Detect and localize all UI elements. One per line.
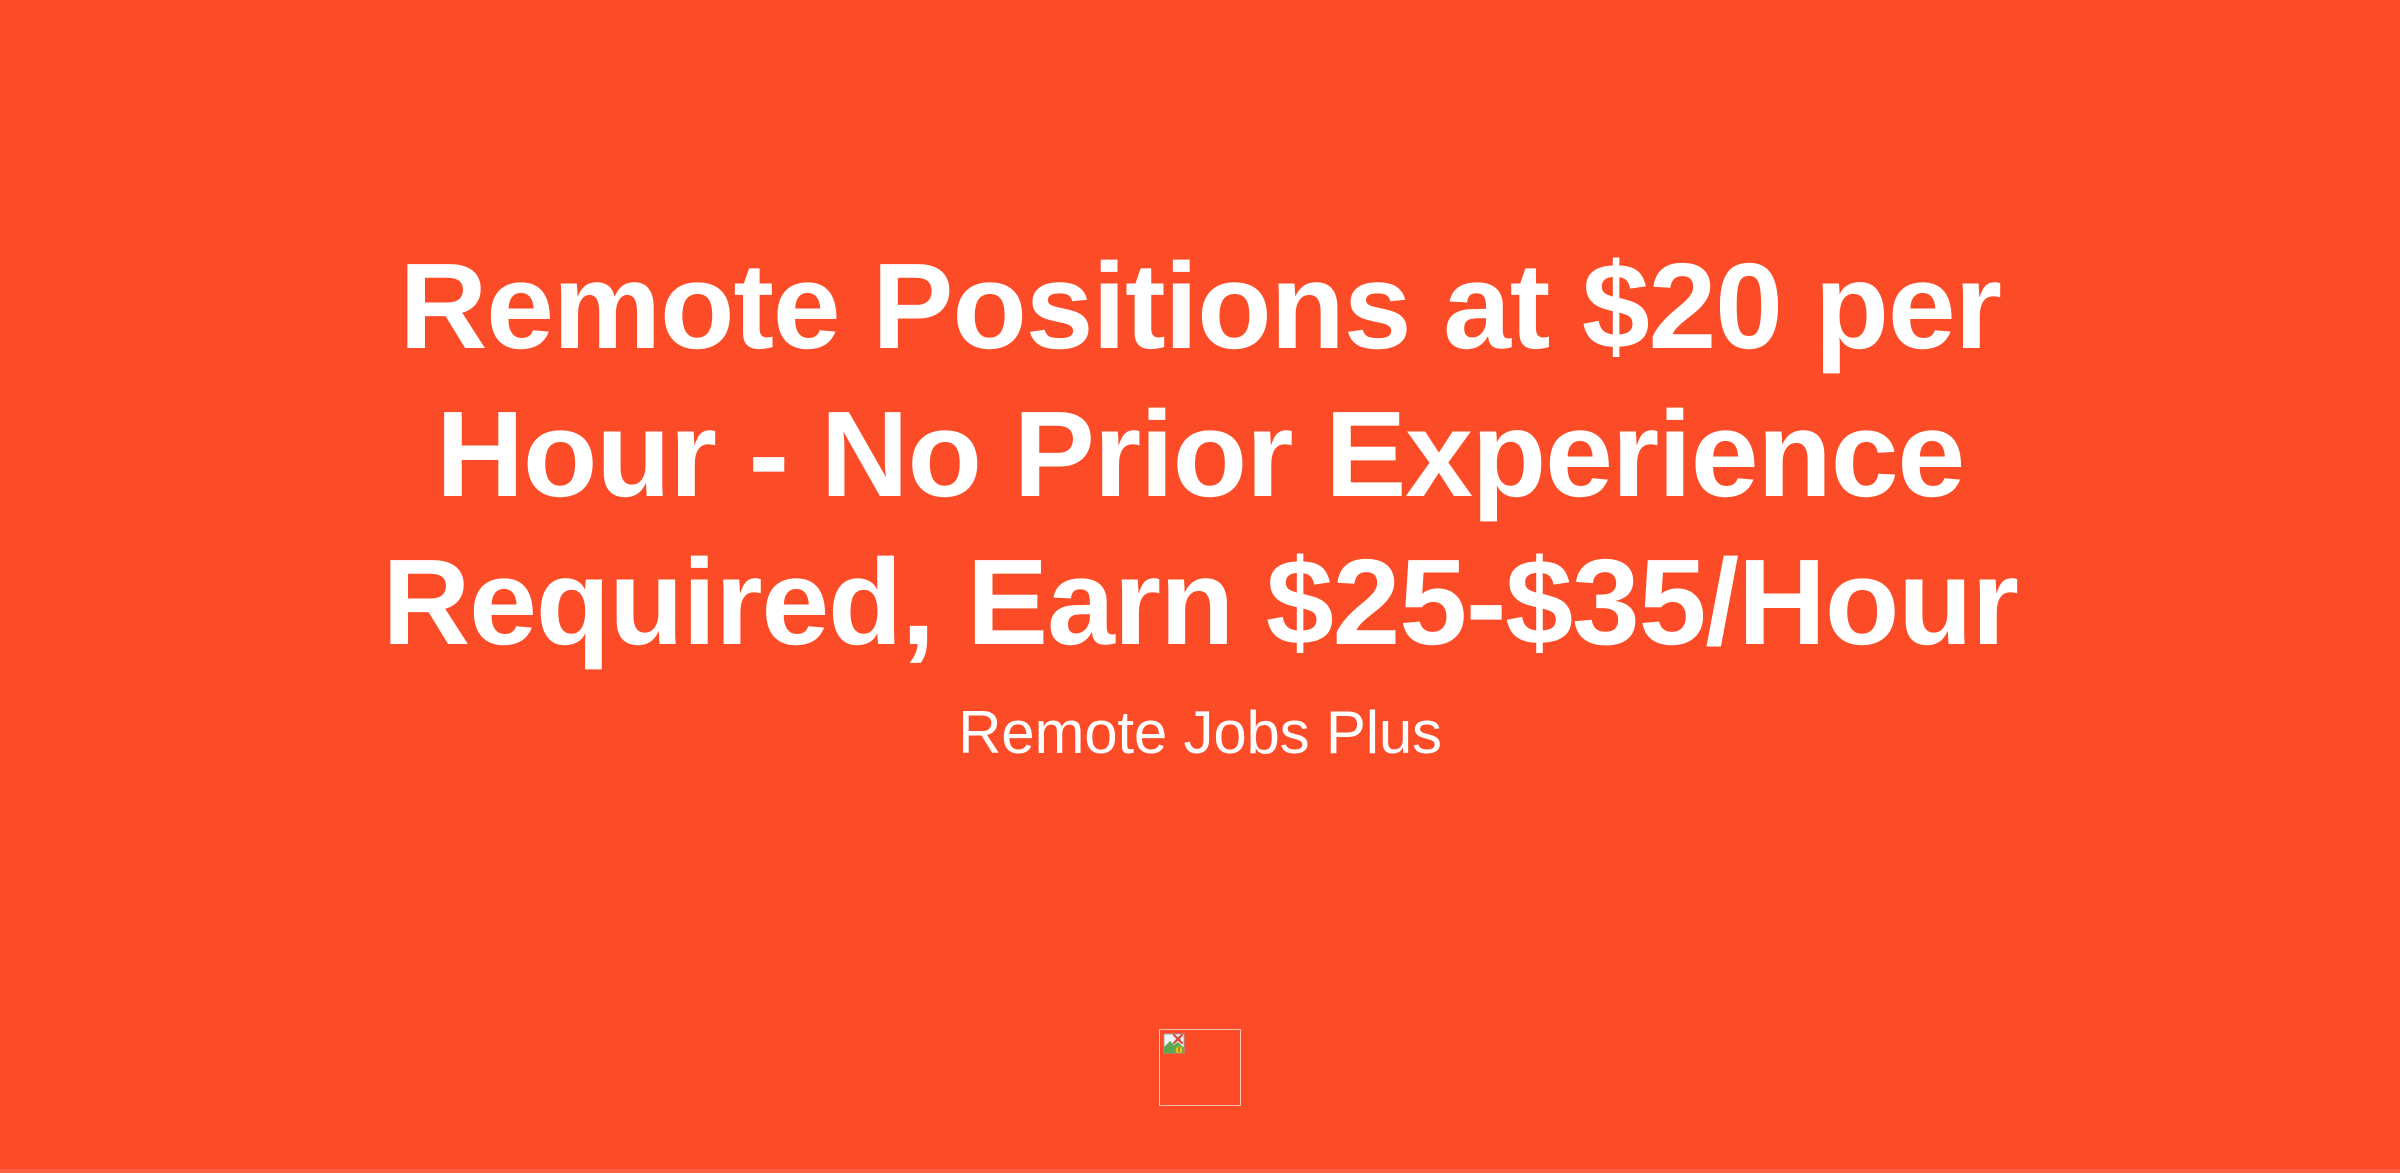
page-subtitle: Remote Jobs Plus	[0, 696, 2400, 770]
page-title-line-1: Remote Positions at $20 per	[0, 232, 2400, 380]
broken-image-icon	[1163, 1033, 1185, 1054]
page-root: Remote Positions at $20 per Hour - No Pr…	[0, 0, 2400, 1173]
hero-text-block: Remote Positions at $20 per Hour - No Pr…	[0, 0, 2400, 770]
bottom-edge-band	[0, 1169, 2400, 1173]
page-title-line-2: Hour - No Prior Experience	[0, 380, 2400, 528]
page-title-line-3: Required, Earn $25-$35/Hour	[0, 528, 2400, 676]
page-title: Remote Positions at $20 per Hour - No Pr…	[0, 232, 2400, 676]
broken-image-placeholder[interactable]	[1159, 1029, 1241, 1106]
